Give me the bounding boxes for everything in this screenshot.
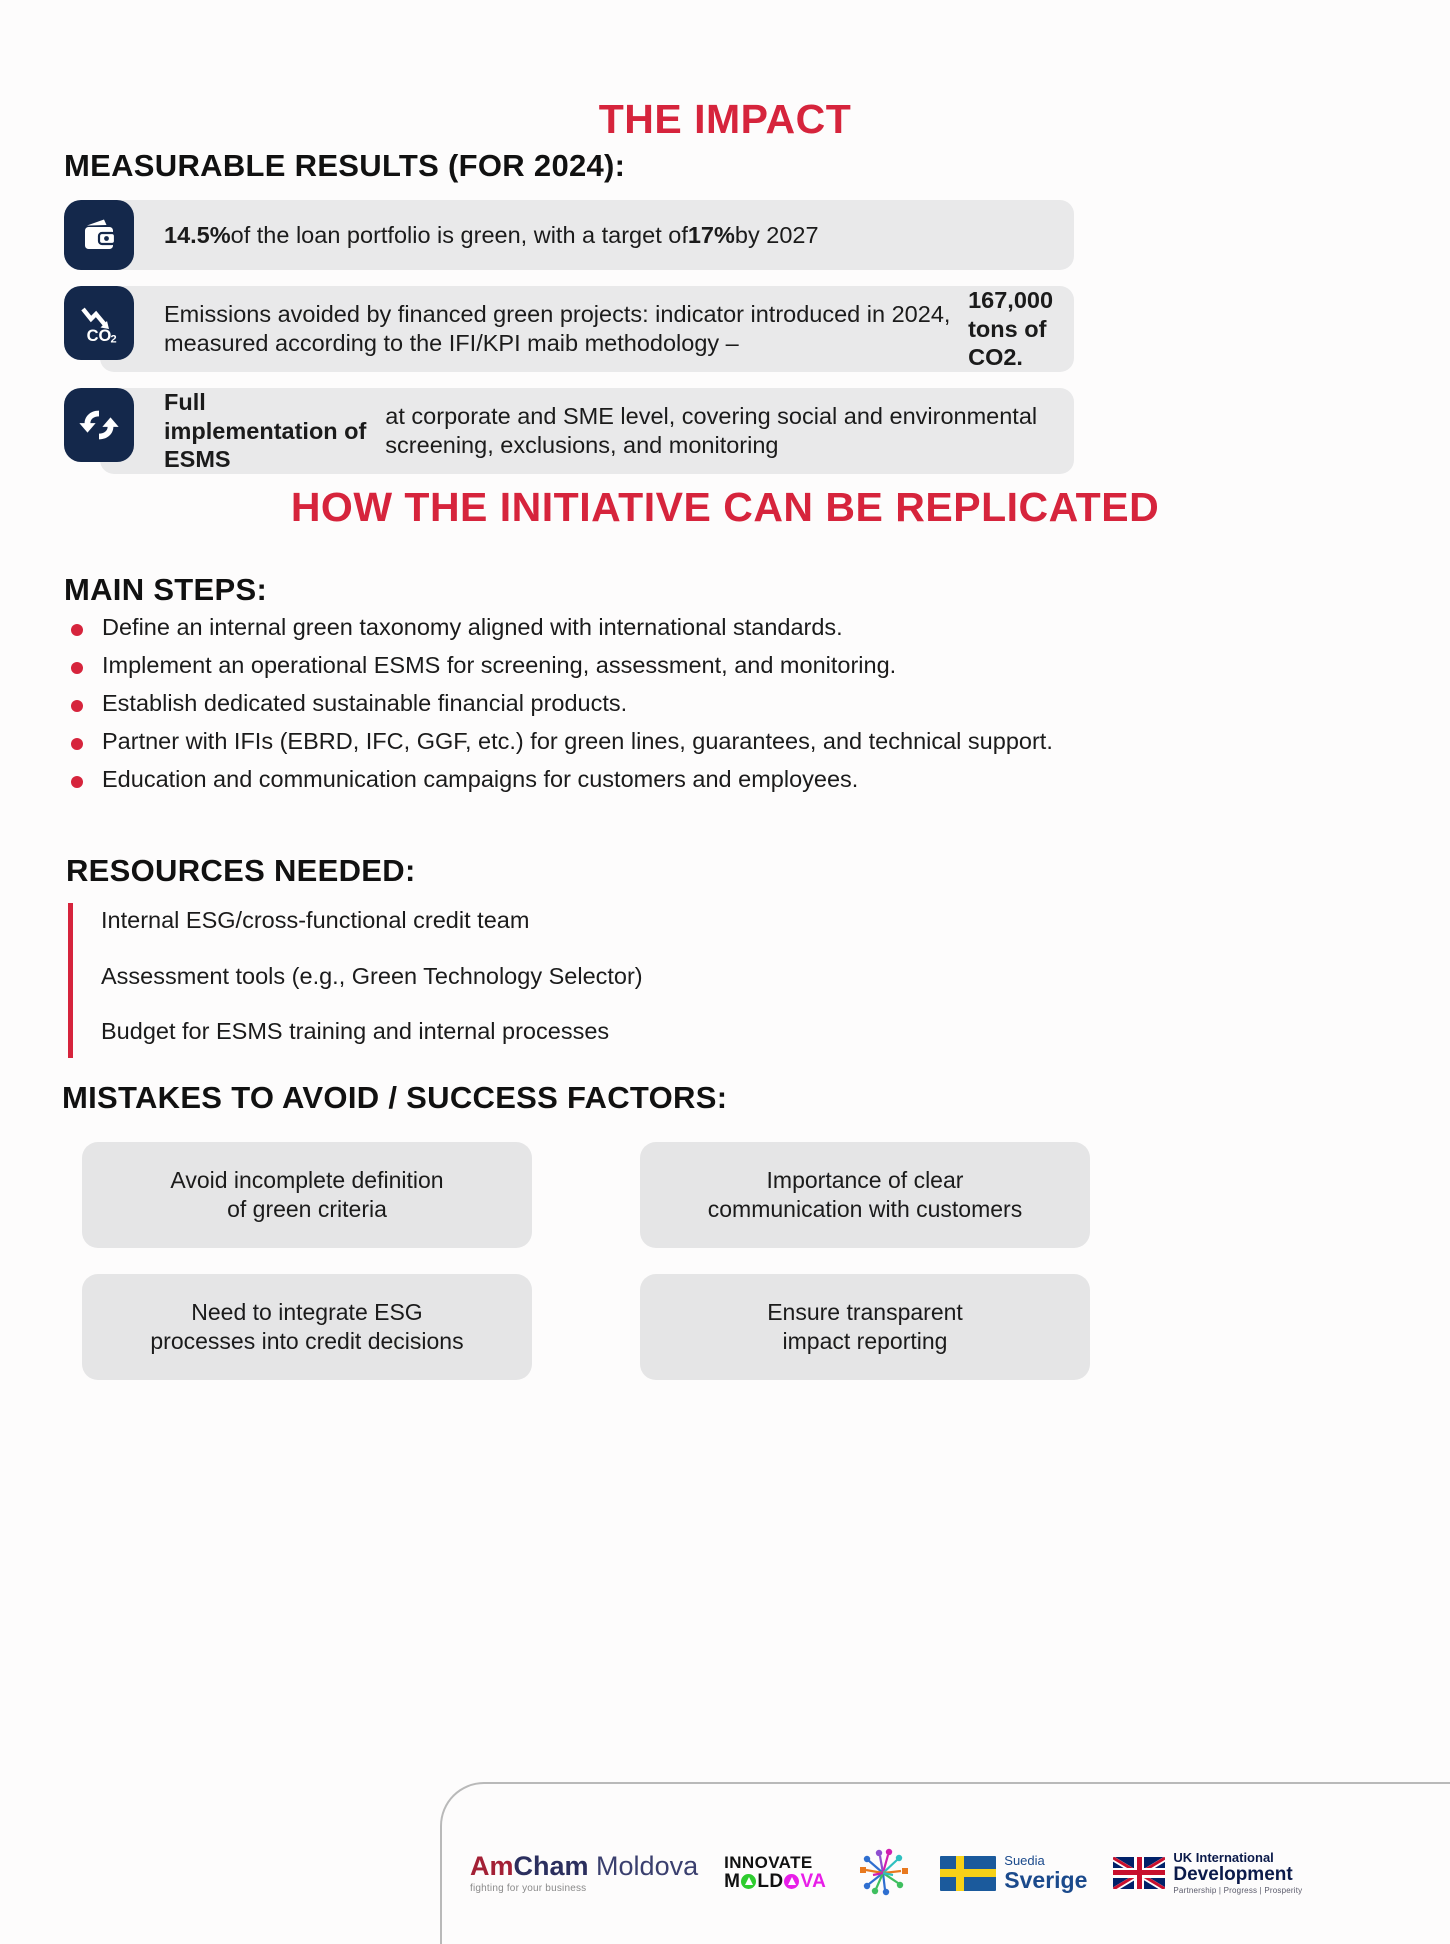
- resource-item: Budget for ESMS training and internal pr…: [101, 1020, 643, 1044]
- main-step-item: Establish dedicated sustainable financia…: [64, 686, 1124, 720]
- replicate-title: HOW THE INITIATIVE CAN BE REPLICATED: [0, 466, 1450, 531]
- result-row: Full implementation of ESMS at corporate…: [64, 388, 1384, 474]
- sweden-line1: Suedia: [1004, 1854, 1087, 1868]
- main-step-item: Education and communication campaigns fo…: [64, 762, 1124, 796]
- amcham-moldova-text: Moldova: [596, 1851, 698, 1881]
- union-jack-icon: [1113, 1857, 1165, 1889]
- result-text: Emissions avoided by financed green proj…: [164, 286, 1122, 372]
- innovate-o2-icon: [784, 1874, 799, 1889]
- uk-international-development-logo: UK International Development Partnership…: [1113, 1851, 1302, 1895]
- measurable-results-list: 14.5% of the loan portfolio is green, wi…: [64, 200, 1384, 490]
- mistake-card: Avoid incomplete definitionof green crit…: [82, 1142, 532, 1248]
- innovate-va-text: VA: [800, 1872, 826, 1892]
- resources-heading: RESOURCES NEEDED:: [66, 853, 416, 889]
- innovate-o-icon: [741, 1874, 756, 1889]
- uk-line3: Partnership | Progress | Prosperity: [1173, 1887, 1302, 1895]
- resource-item: Assessment tools (e.g., Green Technology…: [101, 965, 643, 989]
- recycle-arrows-icon: [64, 388, 134, 462]
- uk-line1: UK International: [1173, 1851, 1302, 1865]
- mistakes-heading: MISTAKES TO AVOID / SUCCESS FACTORS:: [62, 1080, 727, 1116]
- resource-item: Internal ESG/cross-functional credit tea…: [101, 909, 643, 933]
- poster-page: THE IMPACT MEASURABLE RESULTS (FOR 2024)…: [0, 0, 1450, 1933]
- sweden-flag-icon: [940, 1856, 996, 1891]
- mistakes-cards-grid: Avoid incomplete definitionof green crit…: [82, 1142, 1092, 1380]
- mistake-card: Ensure transparentimpact reporting: [640, 1274, 1090, 1380]
- mistake-card: Need to integrate ESGprocesses into cred…: [82, 1274, 532, 1380]
- svg-text:2: 2: [110, 334, 116, 346]
- main-steps-heading: MAIN STEPS:: [64, 572, 267, 608]
- main-step-item: Define an internal green taxonomy aligne…: [64, 610, 1124, 644]
- measurable-results-heading: MEASURABLE RESULTS (FOR 2024):: [64, 148, 625, 184]
- innovate-line1: INNOVATE: [724, 1854, 813, 1872]
- innovate-line2: M LD VA: [724, 1872, 826, 1892]
- page-title: THE IMPACT: [0, 0, 1450, 143]
- amcham-cham-text: Cham: [514, 1851, 589, 1881]
- innovate-ld-text: LD: [757, 1872, 783, 1892]
- co2-decrease-icon: CO 2: [64, 286, 134, 360]
- innovate-m-text: M: [724, 1872, 740, 1892]
- innovate-moldova-logo: INNOVATE M LD VA: [724, 1854, 826, 1891]
- result-row: 14.5% of the loan portfolio is green, wi…: [64, 200, 1384, 270]
- amcham-am-text: Am: [470, 1851, 514, 1881]
- amcham-moldova-logo: AmCham Moldova fighting for your busines…: [470, 1853, 698, 1894]
- result-text: Full implementation of ESMS at corporate…: [164, 388, 1122, 474]
- svg-text:CO: CO: [87, 327, 112, 345]
- result-text: 14.5% of the loan portfolio is green, wi…: [164, 200, 1122, 270]
- network-burst-icon: [852, 1842, 914, 1904]
- sweden-line2: Sverige: [1004, 1868, 1087, 1892]
- replicate-title-wrap: HOW THE INITIATIVE CAN BE REPLICATED: [0, 466, 1450, 531]
- sweden-logo: Suedia Sverige: [940, 1854, 1087, 1892]
- amcham-tagline: fighting for your business: [470, 1883, 586, 1894]
- main-step-item: Partner with IFIs (EBRD, IFC, GGF, etc.)…: [64, 724, 1124, 758]
- result-row: CO 2 Emissions avoided by financed green…: [64, 286, 1384, 372]
- uk-line2: Development: [1173, 1865, 1302, 1885]
- main-steps-list: Define an internal green taxonomy aligne…: [64, 610, 1124, 800]
- resources-list: Internal ESG/cross-functional credit tea…: [68, 903, 643, 1058]
- wallet-icon: [64, 200, 134, 270]
- main-step-item: Implement an operational ESMS for screen…: [64, 648, 1124, 682]
- footer-logos: AmCham Moldova fighting for your busines…: [470, 1838, 1302, 1908]
- mistake-card: Importance of clearcommunication with cu…: [640, 1142, 1090, 1248]
